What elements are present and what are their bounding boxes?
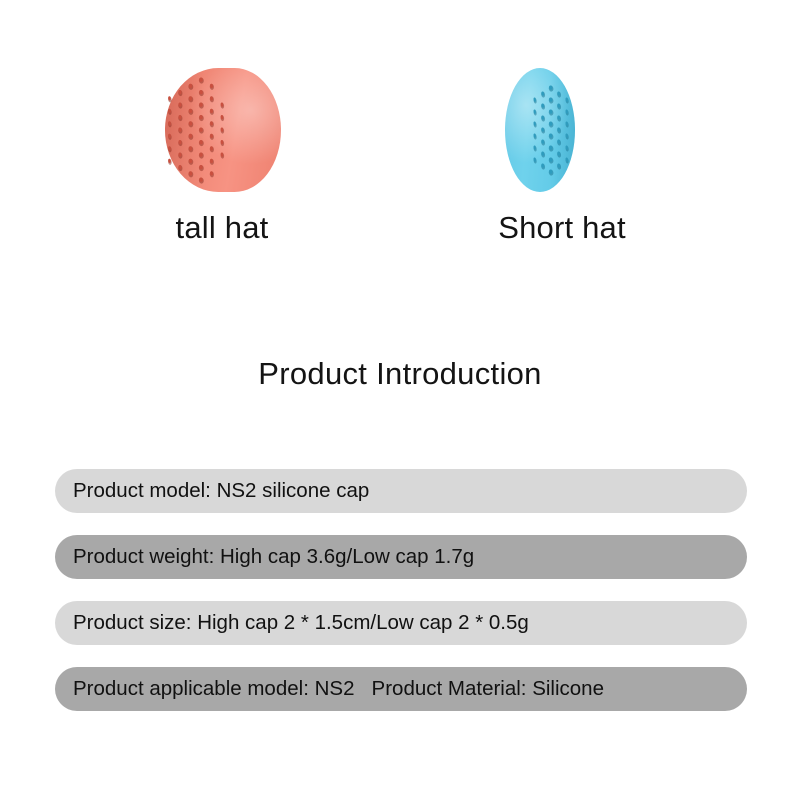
product-spec-list: Product model: NS2 silicone cap Product …	[55, 469, 747, 711]
tall-hat-stage	[72, 60, 372, 200]
product-variant-tall-hat: tall hat	[72, 60, 372, 260]
spec-row-text: Product weight: High cap 3.6g/Low cap 1.…	[73, 547, 474, 568]
product-showcase: tall hat Short hat	[0, 0, 800, 290]
spec-row-text: Product model: NS2 silicone cap	[73, 481, 369, 502]
spec-row-product-weight: Product weight: High cap 3.6g/Low cap 1.…	[55, 535, 747, 579]
product-variant-short-hat: Short hat	[412, 60, 712, 260]
spec-row-text: Product size: High cap 2 * 1.5cm/Low cap…	[73, 613, 529, 634]
short-hat-stage	[412, 60, 712, 200]
short-hat-cap-image	[505, 68, 575, 192]
tall-hat-label: tall hat	[72, 212, 372, 243]
spec-row-applicable-model-material: Product applicable model: NS2 Product Ma…	[55, 667, 747, 711]
spec-row-product-size: Product size: High cap 2 * 1.5cm/Low cap…	[55, 601, 747, 645]
short-hat-label: Short hat	[412, 212, 712, 243]
tall-hat-cap-image	[165, 68, 281, 192]
spec-row-text: Product applicable model: NS2 Product Ma…	[73, 679, 604, 700]
page-title: Product Introduction	[0, 358, 800, 389]
spec-row-product-model: Product model: NS2 silicone cap	[55, 469, 747, 513]
